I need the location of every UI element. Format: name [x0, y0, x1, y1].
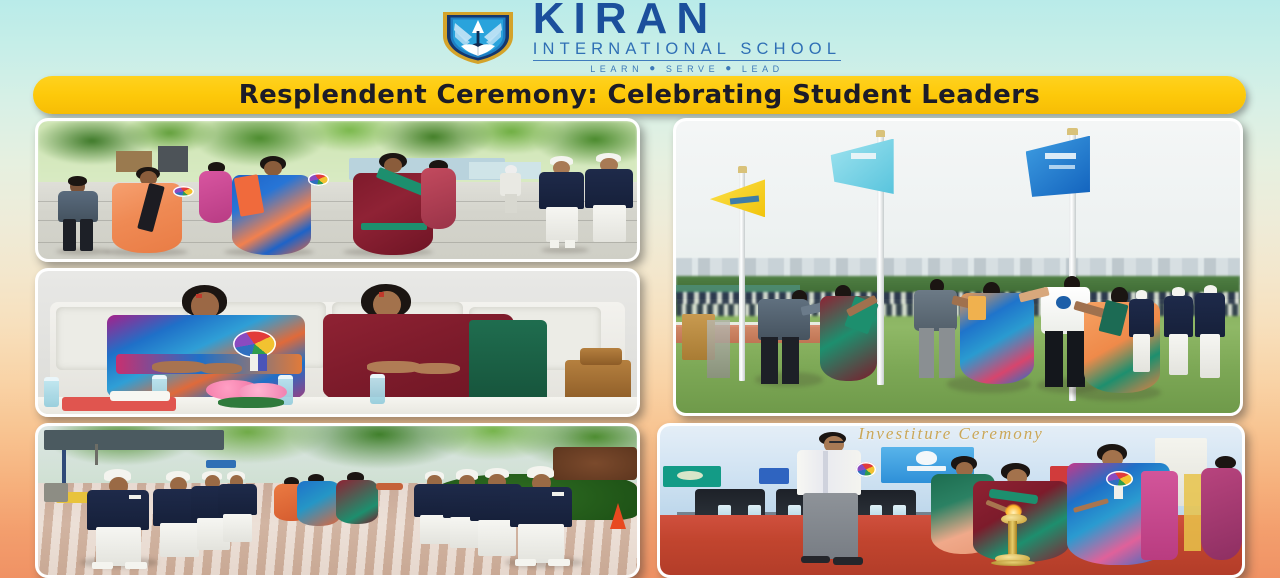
logo-wordmark: KIRAN INTERNATIONAL SCHOOL LEARN ● SERVE… [533, 0, 841, 74]
student-march-past-photo [35, 423, 640, 578]
procession-of-dignitaries-photo [35, 118, 640, 262]
poster-root: KIRAN INTERNATIONAL SCHOOL LEARN ● SERVE… [0, 0, 1280, 578]
photo-scene: Investiture Ceremony [660, 426, 1242, 575]
photo-scene [38, 271, 637, 414]
photo-scene [676, 121, 1240, 413]
kiran-shield-logo [439, 6, 517, 66]
photo-scene [38, 426, 637, 575]
poster-title: Resplendent Ceremony: Celebrating Studen… [239, 80, 1041, 110]
tagline-bullet-icon: ● [649, 63, 660, 74]
tagline-bullet-icon: ● [725, 63, 736, 74]
tagline-word-serve: SERVE [666, 64, 719, 74]
backdrop-text: Investiture Ceremony [858, 426, 1044, 444]
school-subtitle: INTERNATIONAL SCHOOL [533, 40, 841, 62]
photo-scene [38, 121, 637, 259]
title-banner: Resplendent Ceremony: Celebrating Studen… [33, 76, 1246, 114]
school-name: KIRAN [533, 0, 841, 40]
school-tagline: LEARN ● SERVE ● LEAD [533, 63, 841, 74]
tagline-word-lead: LEAD [742, 64, 784, 74]
tagline-word-learn: LEARN [590, 64, 643, 74]
chief-guests-seated-photo [35, 268, 640, 417]
flag-hoisting-ceremony-photo [673, 118, 1243, 416]
lamp-lighting-ceremony-photo: Investiture Ceremony [657, 423, 1245, 578]
poster-header: KIRAN INTERNATIONAL SCHOOL LEARN ● SERVE… [0, 0, 1280, 72]
